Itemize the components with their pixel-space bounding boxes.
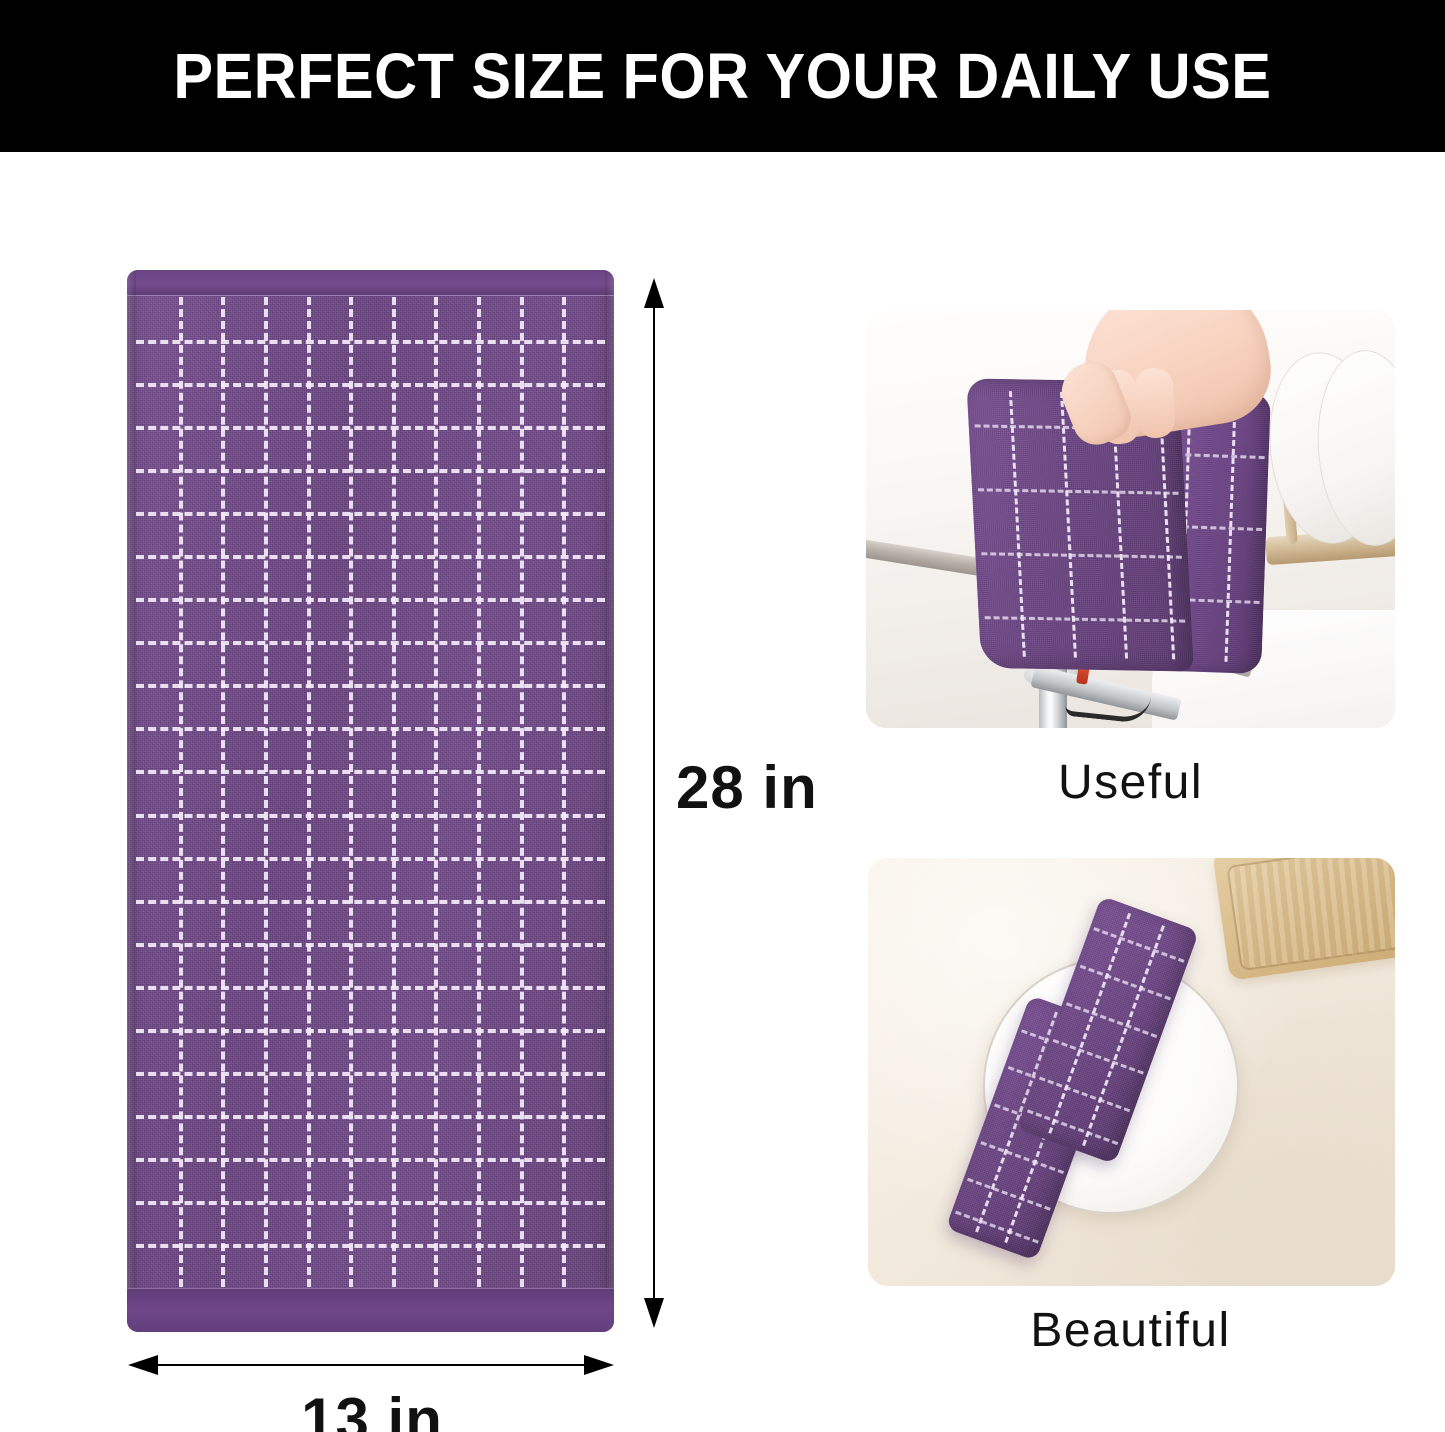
dimension-label-height: 28 in: [676, 753, 818, 822]
caption-beautiful: Beautiful: [866, 1303, 1395, 1358]
grid-line-horizontal: [136, 986, 605, 990]
grid-line-horizontal: [136, 340, 605, 344]
grid-line-horizontal: [136, 426, 605, 430]
grid-line-horizontal: [136, 1158, 605, 1162]
grid-line-horizontal: [136, 1072, 605, 1076]
towel-hem-top: [127, 270, 614, 296]
grid-line-vertical: [520, 297, 524, 1287]
grid-line-horizontal: [136, 900, 605, 904]
photo-panel-useful: [866, 310, 1395, 728]
arrow-head-right-icon: [584, 1355, 614, 1375]
grid-line-horizontal: [136, 1115, 605, 1119]
grid-line-vertical: [221, 297, 225, 1287]
grid-line-horizontal: [136, 857, 605, 861]
grid-line-horizontal: [136, 943, 605, 947]
dimension-line-vertical: [652, 278, 656, 1328]
grid-line-horizontal: [136, 598, 605, 602]
page-title: PERFECT SIZE FOR YOUR DAILY USE: [173, 44, 1271, 108]
photo-panel-beautiful: [868, 858, 1395, 1286]
grid-line-vertical: [349, 297, 353, 1287]
finger: [1134, 367, 1176, 439]
towel-grid-pattern: [136, 297, 605, 1287]
grid-line-horizontal: [136, 727, 605, 731]
grid-line-horizontal: [136, 684, 605, 688]
grid-line-horizontal: [136, 770, 605, 774]
dimension-shaft-vertical: [653, 294, 655, 1312]
header-banner: PERFECT SIZE FOR YOUR DAILY USE: [0, 0, 1445, 152]
dimension-line-horizontal: [128, 1363, 614, 1367]
arrow-head-down-icon: [644, 1298, 664, 1328]
grid-line-horizontal: [136, 1201, 605, 1205]
product-towel: [127, 270, 614, 1332]
towel-hem-bottom: [127, 1288, 614, 1332]
grid-line-vertical: [264, 297, 268, 1287]
grid-line-horizontal: [136, 814, 605, 818]
grid-line-horizontal: [136, 469, 605, 473]
towel-hem-right: [605, 270, 614, 1332]
dimension-label-width: 13 in: [0, 1385, 744, 1432]
grid-line-vertical: [434, 297, 438, 1287]
infographic-page: PERFECT SIZE FOR YOUR DAILY USE 28 in 13…: [0, 0, 1445, 1432]
grid-line-vertical: [179, 297, 183, 1287]
grid-line-horizontal: [136, 555, 605, 559]
grid-line-horizontal: [136, 1244, 605, 1248]
grid-line-horizontal: [136, 1029, 605, 1033]
grid-line-horizontal: [136, 383, 605, 387]
grid-line-vertical: [477, 297, 481, 1287]
grid-line-vertical: [562, 297, 566, 1287]
caption-useful: Useful: [866, 755, 1395, 810]
grid-line-vertical: [307, 297, 311, 1287]
grid-line-horizontal: [136, 641, 605, 645]
dimension-shaft-horizontal: [144, 1364, 598, 1366]
towel-fabric: [127, 270, 614, 1332]
towel-hem-left: [127, 270, 136, 1332]
cutting-board-grain: [1226, 858, 1395, 971]
grid-line-vertical: [392, 297, 396, 1287]
grid-line-horizontal: [136, 512, 605, 516]
